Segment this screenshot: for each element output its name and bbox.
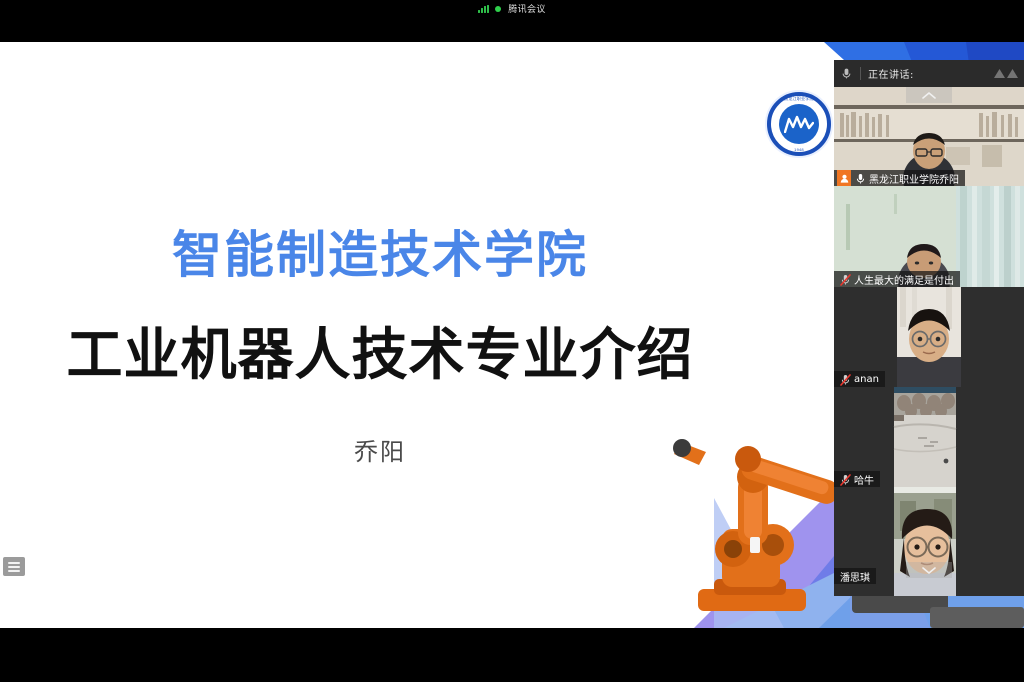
participant-name: 哈牛 — [854, 472, 874, 487]
participant-nametag: 哈牛 — [834, 471, 880, 487]
meeting-panel-header: 正在讲话: — [834, 60, 1024, 87]
scroll-up-chevron[interactable] — [906, 87, 952, 103]
participant-tile-list[interactable]: 黑龙江职业学院乔阳 — [834, 87, 1024, 596]
university-emblem: 黑龙江职业学院 1948 — [765, 90, 833, 158]
host-person-icon — [837, 170, 851, 186]
participant-name: anan — [854, 374, 879, 385]
participant-name: 人生最大的满足是付出 — [854, 272, 954, 287]
speaking-status-label: 正在讲话: — [868, 66, 914, 81]
slide-title: 工业机器人技术专业介绍 — [0, 328, 760, 384]
participant-nametag: 潘思琪 — [834, 568, 876, 584]
participant-nametag: 人生最大的满足是付出 — [834, 271, 960, 287]
participant-nametag: 黑龙江职业学院乔阳 — [834, 170, 965, 186]
participant-name: 黑龙江职业学院乔阳 — [869, 171, 959, 186]
slide-menu-button[interactable] — [3, 557, 25, 576]
screen: 腾讯会议 黑龙江职业学院 1948 — [0, 0, 1024, 682]
participant-tile[interactable]: anan — [834, 287, 1024, 387]
emblem-wave-mark — [779, 104, 819, 144]
microphone-muted-icon — [840, 473, 851, 485]
microphone-icon — [855, 172, 866, 184]
microphone-muted-icon — [840, 373, 851, 385]
participant-tile[interactable]: 潘思琪 — [834, 487, 1024, 596]
signal-bars-icon — [478, 5, 489, 13]
participant-name: 潘思琪 — [840, 569, 870, 584]
app-name-label: 腾讯会议 — [508, 2, 546, 15]
header-divider — [860, 67, 861, 80]
green-recording-dot — [495, 6, 501, 12]
participant-tile[interactable]: 哈牛 — [834, 387, 1024, 487]
emblem-top-text: 黑龙江职业学院 — [767, 96, 831, 102]
system-top-bar: 腾讯会议 — [0, 0, 1024, 17]
participant-nametag: anan — [834, 371, 885, 387]
slide-subtitle: 智能制造技术学院 — [0, 230, 760, 280]
participant-tile[interactable]: 黑龙江职业学院乔阳 — [834, 87, 1024, 186]
microphone-icon — [840, 67, 853, 80]
collapse-chevrons-icon[interactable] — [994, 69, 1018, 78]
emblem-bottom-text: 1948 — [767, 147, 831, 152]
participant-tile[interactable]: 人生最大的满足是付出 — [834, 186, 1024, 287]
scroll-down-chevron[interactable] — [906, 562, 952, 578]
microphone-muted-icon — [840, 273, 851, 285]
meeting-participants-panel: 正在讲话: — [834, 60, 1024, 596]
